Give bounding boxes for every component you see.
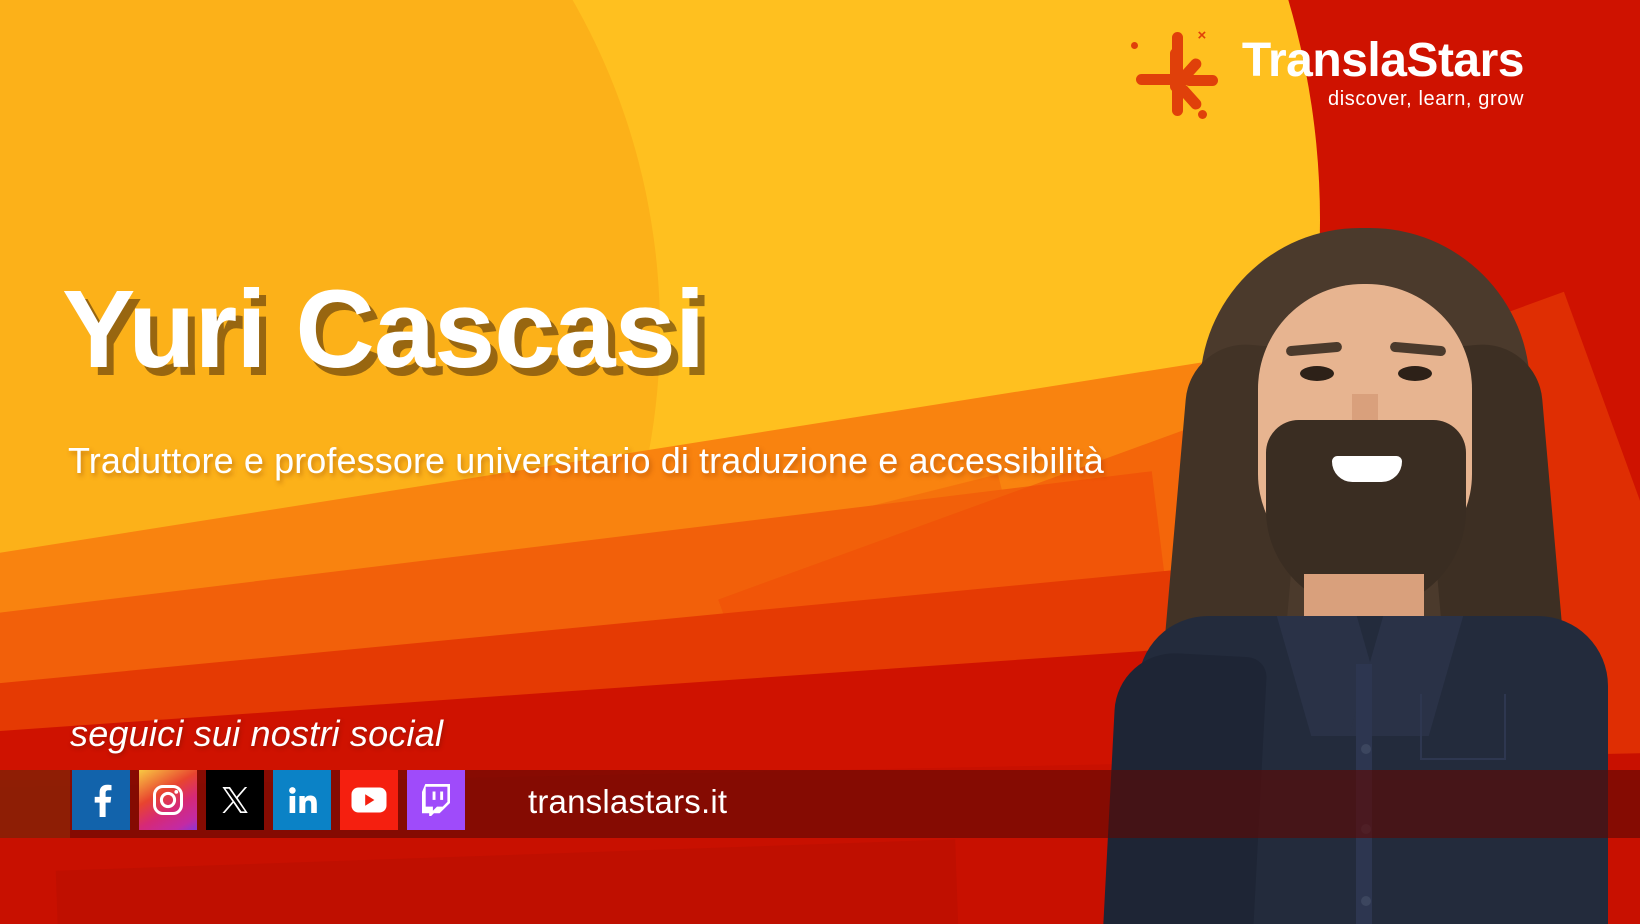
facebook-icon[interactable] [72,770,130,830]
logo-wordmark: TranslaStars discover, learn, grow [1242,37,1524,111]
social-links [72,770,465,830]
website-url[interactable]: translastars.it [528,773,727,831]
social-band-tint [0,770,70,838]
speaker-name: Yuri Cascasi [62,272,704,388]
speaker-banner: × TranslaStars discover, learn, grow Yur… [0,0,1640,924]
x-twitter-icon[interactable] [206,770,264,830]
logo-name: TranslaStars [1242,37,1524,86]
speaker-role: Traduttore e professore universitario di… [68,440,1104,482]
logo-mark-dot-small [1131,42,1138,49]
translastars-logo[interactable]: × TranslaStars discover, learn, grow [1122,26,1524,122]
instagram-icon[interactable] [139,770,197,830]
follow-us-label: seguici sui nostri social [70,713,443,755]
twitch-icon[interactable] [407,770,465,830]
logo-mark-right-arm [1184,75,1218,86]
logo-mark-dot-large [1198,110,1207,119]
youtube-icon[interactable] [340,770,398,830]
linkedin-icon[interactable] [273,770,331,830]
logo-tagline: discover, learn, grow [1328,88,1524,111]
translastars-asterisk-icon: × [1122,26,1226,122]
logo-mark-x-icon: × [1194,28,1210,44]
